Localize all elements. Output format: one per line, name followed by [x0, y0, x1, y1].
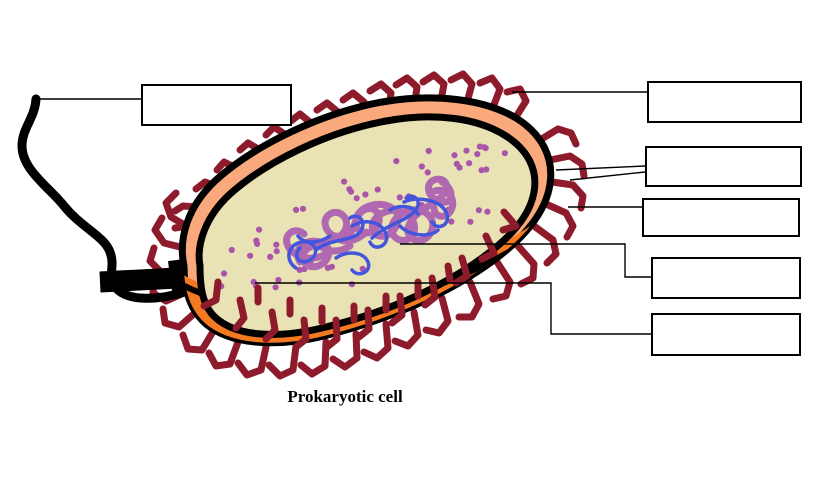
label-box-4[interactable] [642, 198, 800, 237]
ribosome-dot [274, 248, 280, 254]
ribosome-dot [354, 195, 360, 201]
ribosome-dot [229, 247, 235, 253]
ribosome-dot [221, 270, 227, 276]
ribosome-dot [397, 194, 403, 200]
label-box-1[interactable] [141, 84, 292, 126]
prokaryotic-cell-illustration [0, 0, 835, 496]
ribosome-dot [448, 219, 454, 225]
ribosome-dot [300, 206, 306, 212]
label-box-6[interactable] [651, 313, 801, 356]
ribosome-dot [267, 254, 273, 260]
ribosome-dot [273, 284, 279, 290]
ribosome-dot [476, 207, 482, 213]
ribosome-dot [254, 241, 260, 247]
ribosome-dot [349, 281, 355, 287]
ribosome-dot [275, 277, 281, 283]
ribosome-dot [425, 169, 431, 175]
ribosome-dot [454, 161, 460, 167]
ribosome-dot [484, 209, 490, 215]
ribosome-dot [329, 264, 335, 270]
ribosome-dot [463, 148, 469, 154]
ribosome-dot [466, 160, 472, 166]
ribosome-dot [477, 144, 483, 150]
ribosome-dot [426, 148, 432, 154]
ribosome-dot [451, 152, 457, 158]
ribosome-dot [348, 189, 354, 195]
ribosome-dot [273, 242, 279, 248]
label-box-5[interactable] [651, 257, 801, 299]
ribosome-dot [256, 227, 262, 233]
figure-canvas: Prokaryotic cell [0, 0, 835, 496]
ribosome-dot [247, 253, 253, 259]
ribosome-dot [393, 158, 399, 164]
leader-capsule [556, 166, 645, 170]
ribosome-dot [341, 179, 347, 185]
figure-caption: Prokaryotic cell [230, 387, 460, 407]
ribosome-dot [502, 150, 508, 156]
label-box-2[interactable] [647, 81, 802, 123]
ribosome-dot [474, 151, 480, 157]
ribosome-dot [483, 166, 489, 172]
ribosome-dot [419, 163, 425, 169]
ribosome-dot [362, 191, 368, 197]
ribosome-dot [375, 187, 381, 193]
ribosome-dot [467, 219, 473, 225]
label-box-3[interactable] [645, 146, 802, 187]
ribosome-dot [293, 207, 299, 213]
